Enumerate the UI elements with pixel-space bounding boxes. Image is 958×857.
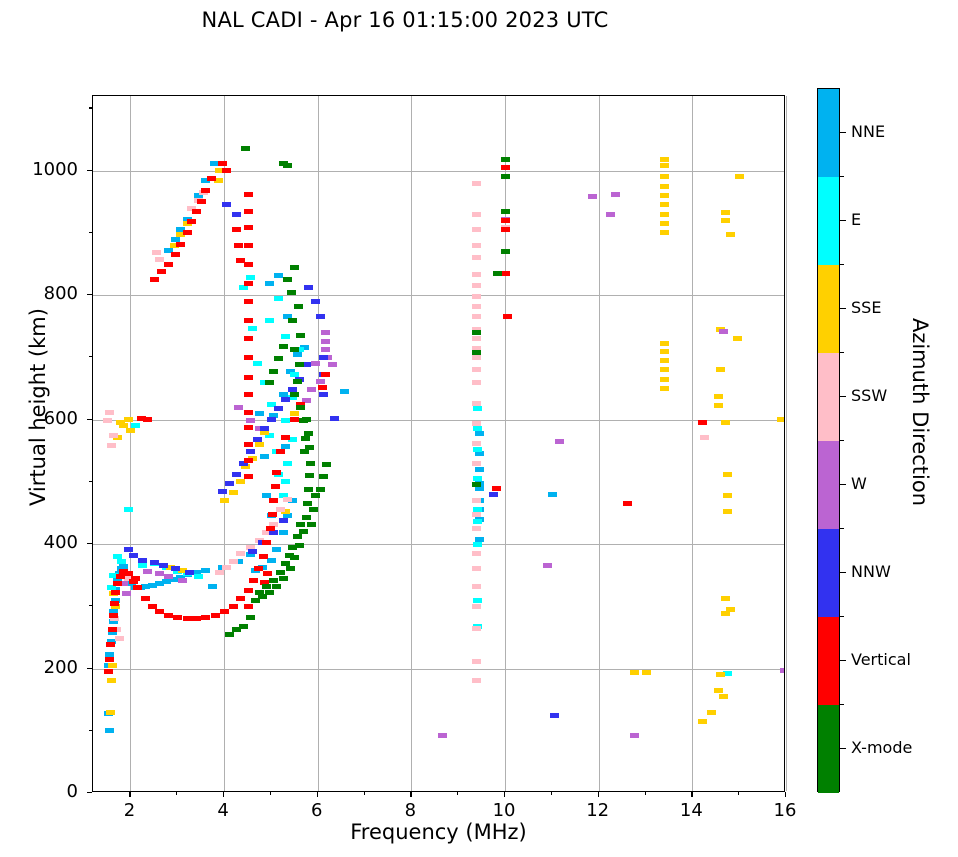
- x-tick-label: 12: [568, 800, 628, 821]
- data-point: [143, 417, 152, 422]
- data-point: [321, 372, 330, 377]
- data-point: [290, 265, 299, 270]
- data-point: [272, 547, 281, 552]
- y-tick: [87, 294, 92, 295]
- data-point: [244, 192, 253, 197]
- data-point: [287, 290, 296, 295]
- data-point: [300, 449, 309, 454]
- data-point: [285, 553, 294, 558]
- colorbar-label-sse: SSE: [851, 298, 881, 317]
- colorbar-band-w: [818, 441, 839, 529]
- colorbar-boundary-tick: [840, 528, 844, 529]
- data-point: [234, 405, 243, 410]
- data-point: [303, 501, 312, 506]
- data-point: [155, 609, 164, 614]
- data-point: [281, 397, 290, 402]
- data-point: [276, 449, 285, 454]
- data-point: [133, 585, 142, 590]
- data-point: [777, 417, 784, 422]
- data-point: [269, 578, 278, 583]
- data-point: [316, 314, 325, 319]
- y-minor-tick: [89, 232, 92, 233]
- data-point: [721, 611, 730, 616]
- data-point: [244, 299, 253, 304]
- data-point: [265, 380, 274, 385]
- data-point: [187, 219, 196, 224]
- data-point: [265, 281, 274, 286]
- data-point: [472, 272, 481, 277]
- data-point: [472, 461, 481, 466]
- x-tick: [223, 792, 224, 797]
- data-point: [246, 418, 255, 423]
- data-point: [271, 484, 280, 489]
- colorbar-label: Azimuth Direction: [908, 282, 932, 542]
- y-tick-label: 0: [18, 781, 78, 802]
- data-point: [716, 672, 725, 677]
- data-point: [660, 163, 669, 168]
- data-point: [201, 188, 210, 193]
- x-minor-tick: [176, 792, 177, 795]
- data-point: [299, 418, 308, 423]
- data-point: [472, 441, 481, 446]
- data-point: [721, 596, 730, 601]
- data-point: [330, 416, 339, 421]
- data-point: [472, 367, 481, 372]
- data-point: [660, 221, 669, 226]
- data-point: [780, 668, 784, 673]
- data-point: [311, 493, 320, 498]
- data-point: [150, 560, 159, 565]
- data-point: [272, 584, 281, 589]
- data-point: [157, 269, 166, 274]
- data-point: [126, 428, 135, 433]
- data-point: [316, 379, 325, 384]
- data-point: [244, 281, 253, 286]
- data-point: [660, 230, 669, 235]
- data-markers: [93, 96, 784, 791]
- y-axis-label: Virtual height (km): [26, 277, 50, 537]
- data-point: [253, 361, 262, 366]
- data-point: [340, 389, 349, 394]
- data-point: [253, 437, 262, 442]
- data-point: [726, 232, 735, 237]
- colorbar-label-x-mode: X-mode: [851, 738, 912, 757]
- colorbar-label-e: E: [851, 210, 861, 229]
- data-point: [105, 410, 114, 415]
- data-point: [293, 352, 302, 357]
- data-point: [192, 616, 201, 621]
- data-point: [472, 212, 481, 217]
- data-point: [304, 285, 313, 290]
- data-point: [232, 472, 241, 477]
- data-point: [473, 519, 482, 524]
- data-point: [473, 406, 482, 411]
- data-point: [501, 174, 510, 179]
- data-point: [726, 607, 735, 612]
- data-point: [265, 318, 274, 323]
- colorbar-band-ssw: [818, 353, 839, 441]
- colorbar: [817, 88, 840, 792]
- data-point: [472, 304, 481, 309]
- data-point: [293, 379, 302, 384]
- data-point: [107, 678, 116, 683]
- data-point: [246, 449, 255, 454]
- data-point: [171, 566, 180, 571]
- colorbar-label-vertical: Vertical: [851, 650, 911, 669]
- data-point: [220, 498, 229, 503]
- data-point: [229, 604, 238, 609]
- data-point: [293, 534, 302, 539]
- data-point: [236, 479, 245, 484]
- data-point: [283, 497, 292, 502]
- data-point: [321, 347, 330, 352]
- colorbar-tick: [840, 132, 846, 133]
- x-minor-tick: [551, 792, 552, 795]
- data-point: [472, 401, 481, 406]
- data-point: [305, 473, 314, 478]
- x-tick: [598, 792, 599, 797]
- data-point: [269, 369, 278, 374]
- data-point: [244, 243, 253, 248]
- data-point: [183, 230, 192, 235]
- data-point: [106, 642, 115, 647]
- data-point: [492, 486, 501, 491]
- colorbar-label-nnw: NNW: [851, 562, 891, 581]
- data-point: [103, 418, 112, 423]
- data-point: [306, 461, 315, 466]
- data-point: [714, 688, 723, 693]
- data-point: [472, 255, 481, 260]
- colorbar-boundary-tick: [840, 704, 844, 705]
- data-point: [721, 218, 730, 223]
- data-point: [225, 632, 234, 637]
- data-point: [660, 193, 669, 198]
- data-point: [164, 613, 173, 618]
- data-point: [543, 563, 552, 568]
- data-point: [472, 336, 481, 341]
- data-point: [236, 596, 245, 601]
- data-point: [244, 588, 253, 593]
- data-point: [115, 636, 124, 641]
- data-point: [113, 581, 122, 586]
- data-point: [316, 487, 325, 492]
- x-tick-label: 2: [99, 800, 159, 821]
- x-tick-label: 8: [380, 800, 440, 821]
- data-point: [218, 161, 227, 166]
- data-point: [208, 584, 217, 589]
- data-point: [159, 563, 168, 568]
- data-point: [294, 304, 303, 309]
- data-point: [438, 733, 447, 738]
- data-point: [321, 339, 330, 344]
- data-point: [472, 659, 481, 664]
- data-point: [472, 314, 481, 319]
- data-point: [472, 584, 481, 589]
- x-minor-tick: [738, 792, 739, 795]
- data-point: [660, 202, 669, 207]
- data-point: [254, 566, 263, 571]
- data-point: [143, 569, 152, 574]
- data-point: [171, 252, 180, 257]
- colorbar-tick: [840, 572, 846, 573]
- data-point: [244, 225, 253, 230]
- data-point: [248, 549, 257, 554]
- x-tick-label: 4: [193, 800, 253, 821]
- data-point: [475, 431, 484, 436]
- data-point: [124, 547, 133, 552]
- data-point: [290, 411, 299, 416]
- data-point: [472, 283, 481, 288]
- data-point: [472, 294, 481, 299]
- data-point: [138, 563, 147, 568]
- data-point: [173, 615, 182, 620]
- data-point: [220, 609, 229, 614]
- data-point: [295, 362, 304, 367]
- data-point: [131, 576, 140, 581]
- data-point: [246, 275, 255, 280]
- x-tick-label: 6: [287, 800, 347, 821]
- data-point: [493, 271, 502, 276]
- data-point: [473, 426, 482, 431]
- data-point: [122, 591, 131, 596]
- data-point: [281, 334, 290, 339]
- data-point: [276, 570, 285, 575]
- data-point: [185, 570, 194, 575]
- data-point: [714, 394, 723, 399]
- data-point: [138, 558, 147, 563]
- data-point: [642, 670, 651, 675]
- data-point: [472, 626, 481, 631]
- data-point: [288, 545, 297, 550]
- data-point: [124, 417, 133, 422]
- data-point: [276, 507, 285, 512]
- data-point: [501, 165, 510, 170]
- data-point: [501, 209, 510, 214]
- data-point: [489, 492, 498, 497]
- data-point: [283, 163, 292, 168]
- data-point: [700, 435, 709, 440]
- data-point: [244, 336, 253, 341]
- data-point: [229, 490, 238, 495]
- data-point: [194, 574, 203, 579]
- data-point: [108, 663, 117, 668]
- colorbar-tick: [840, 748, 846, 749]
- data-point: [472, 243, 481, 248]
- data-point: [472, 482, 481, 487]
- colorbar-band-nnw: [818, 529, 839, 617]
- data-point: [290, 347, 299, 352]
- data-point: [723, 493, 732, 498]
- data-point: [328, 362, 337, 367]
- y-tick: [87, 543, 92, 544]
- data-point: [503, 314, 512, 319]
- data-point: [265, 590, 274, 595]
- colorbar-band-e: [818, 177, 839, 265]
- data-point: [106, 710, 115, 715]
- colorbar-boundary-tick: [840, 440, 844, 441]
- data-point: [262, 584, 271, 589]
- data-point: [129, 553, 138, 558]
- data-point: [274, 273, 283, 278]
- data-point: [259, 554, 268, 559]
- data-point: [109, 433, 118, 438]
- data-point: [473, 542, 482, 547]
- data-point: [255, 411, 264, 416]
- data-point: [472, 678, 481, 683]
- colorbar-tick: [840, 220, 846, 221]
- data-point: [623, 501, 632, 506]
- y-tick-label: 200: [18, 657, 78, 678]
- data-point: [111, 590, 120, 595]
- x-tick: [317, 792, 318, 797]
- data-point: [244, 410, 253, 415]
- x-tick: [785, 792, 786, 797]
- data-point: [473, 598, 482, 603]
- data-point: [279, 576, 288, 581]
- data-point: [105, 657, 114, 662]
- x-tick-label: 10: [474, 800, 534, 821]
- data-point: [301, 436, 310, 441]
- data-point: [296, 405, 305, 410]
- data-point: [267, 558, 276, 563]
- data-point: [279, 530, 288, 535]
- data-point: [255, 442, 264, 447]
- data-point: [279, 518, 288, 523]
- data-point: [244, 474, 253, 479]
- data-point: [472, 551, 481, 556]
- colorbar-boundary-tick: [840, 176, 844, 177]
- plot-area: [92, 95, 785, 792]
- y-tick-label: 1000: [18, 159, 78, 180]
- data-point: [733, 336, 742, 341]
- data-point: [241, 146, 250, 151]
- data-point: [719, 694, 728, 699]
- data-point: [660, 386, 669, 391]
- data-point: [698, 420, 707, 425]
- x-minor-tick: [364, 792, 365, 795]
- colorbar-tick: [840, 484, 846, 485]
- data-point: [501, 157, 510, 162]
- data-point: [321, 330, 330, 335]
- data-point: [283, 461, 292, 466]
- data-point: [660, 341, 669, 346]
- data-point: [302, 515, 311, 520]
- data-point: [110, 601, 119, 606]
- data-point: [307, 387, 316, 392]
- data-point: [322, 462, 331, 467]
- data-point: [473, 447, 482, 452]
- data-point: [274, 406, 283, 411]
- y-tick: [87, 170, 92, 171]
- data-point: [472, 355, 481, 360]
- data-point: [269, 498, 278, 503]
- data-point: [472, 498, 481, 503]
- data-point: [107, 443, 116, 448]
- data-point: [660, 377, 669, 382]
- data-point: [318, 385, 327, 390]
- data-point: [472, 227, 481, 232]
- data-point: [304, 487, 313, 492]
- data-point: [244, 604, 253, 609]
- data-point: [183, 616, 192, 621]
- data-point: [201, 615, 210, 620]
- data-point: [472, 380, 481, 385]
- data-point: [472, 604, 481, 609]
- data-point: [155, 571, 164, 576]
- data-point: [141, 596, 150, 601]
- x-minor-tick: [457, 792, 458, 795]
- data-point: [309, 507, 318, 512]
- data-point: [244, 375, 253, 380]
- colorbar-tick: [840, 660, 846, 661]
- data-point: [246, 615, 255, 620]
- x-tick: [504, 792, 505, 797]
- data-point: [244, 458, 253, 463]
- data-point: [249, 578, 258, 583]
- data-point: [178, 578, 187, 583]
- data-point: [311, 299, 320, 304]
- colorbar-label-ssw: SSW: [851, 386, 887, 405]
- data-point: [473, 476, 482, 481]
- data-point: [290, 392, 299, 397]
- data-point: [105, 728, 114, 733]
- colorbar-boundary-tick: [840, 616, 844, 617]
- data-point: [281, 479, 290, 484]
- data-point: [248, 326, 257, 331]
- data-point: [555, 439, 564, 444]
- data-point: [263, 571, 272, 576]
- data-point: [735, 174, 744, 179]
- data-point: [606, 212, 615, 217]
- y-minor-tick: [89, 605, 92, 606]
- data-point: [176, 242, 185, 247]
- data-point: [215, 570, 224, 575]
- data-point: [660, 358, 669, 363]
- data-point: [472, 512, 481, 517]
- data-point: [660, 349, 669, 354]
- data-point: [281, 561, 290, 566]
- chart-title: NAL CADI - Apr 16 01:15:00 2023 UTC: [0, 8, 810, 32]
- colorbar-label-w: W: [851, 474, 867, 493]
- x-tick: [129, 792, 130, 797]
- data-point: [286, 566, 295, 571]
- data-point: [698, 719, 707, 724]
- data-point: [244, 425, 253, 430]
- x-minor-tick: [645, 792, 646, 795]
- data-point: [225, 481, 234, 486]
- data-point: [222, 168, 231, 173]
- data-point: [501, 227, 510, 232]
- data-point: [272, 470, 281, 475]
- data-point: [232, 227, 241, 232]
- data-point: [268, 512, 277, 517]
- data-point: [260, 426, 269, 431]
- x-tick-label: 14: [661, 800, 721, 821]
- colorbar-boundary-tick: [840, 352, 844, 353]
- data-point: [266, 526, 275, 531]
- colorbar-band-vertical: [818, 617, 839, 705]
- data-point: [288, 318, 297, 323]
- y-tick: [87, 668, 92, 669]
- data-point: [164, 262, 173, 267]
- data-point: [660, 367, 669, 372]
- y-minor-tick: [89, 730, 92, 731]
- data-point: [721, 210, 730, 215]
- x-tick: [691, 792, 692, 797]
- data-point: [104, 669, 113, 674]
- data-point: [501, 218, 510, 223]
- data-point: [244, 442, 253, 447]
